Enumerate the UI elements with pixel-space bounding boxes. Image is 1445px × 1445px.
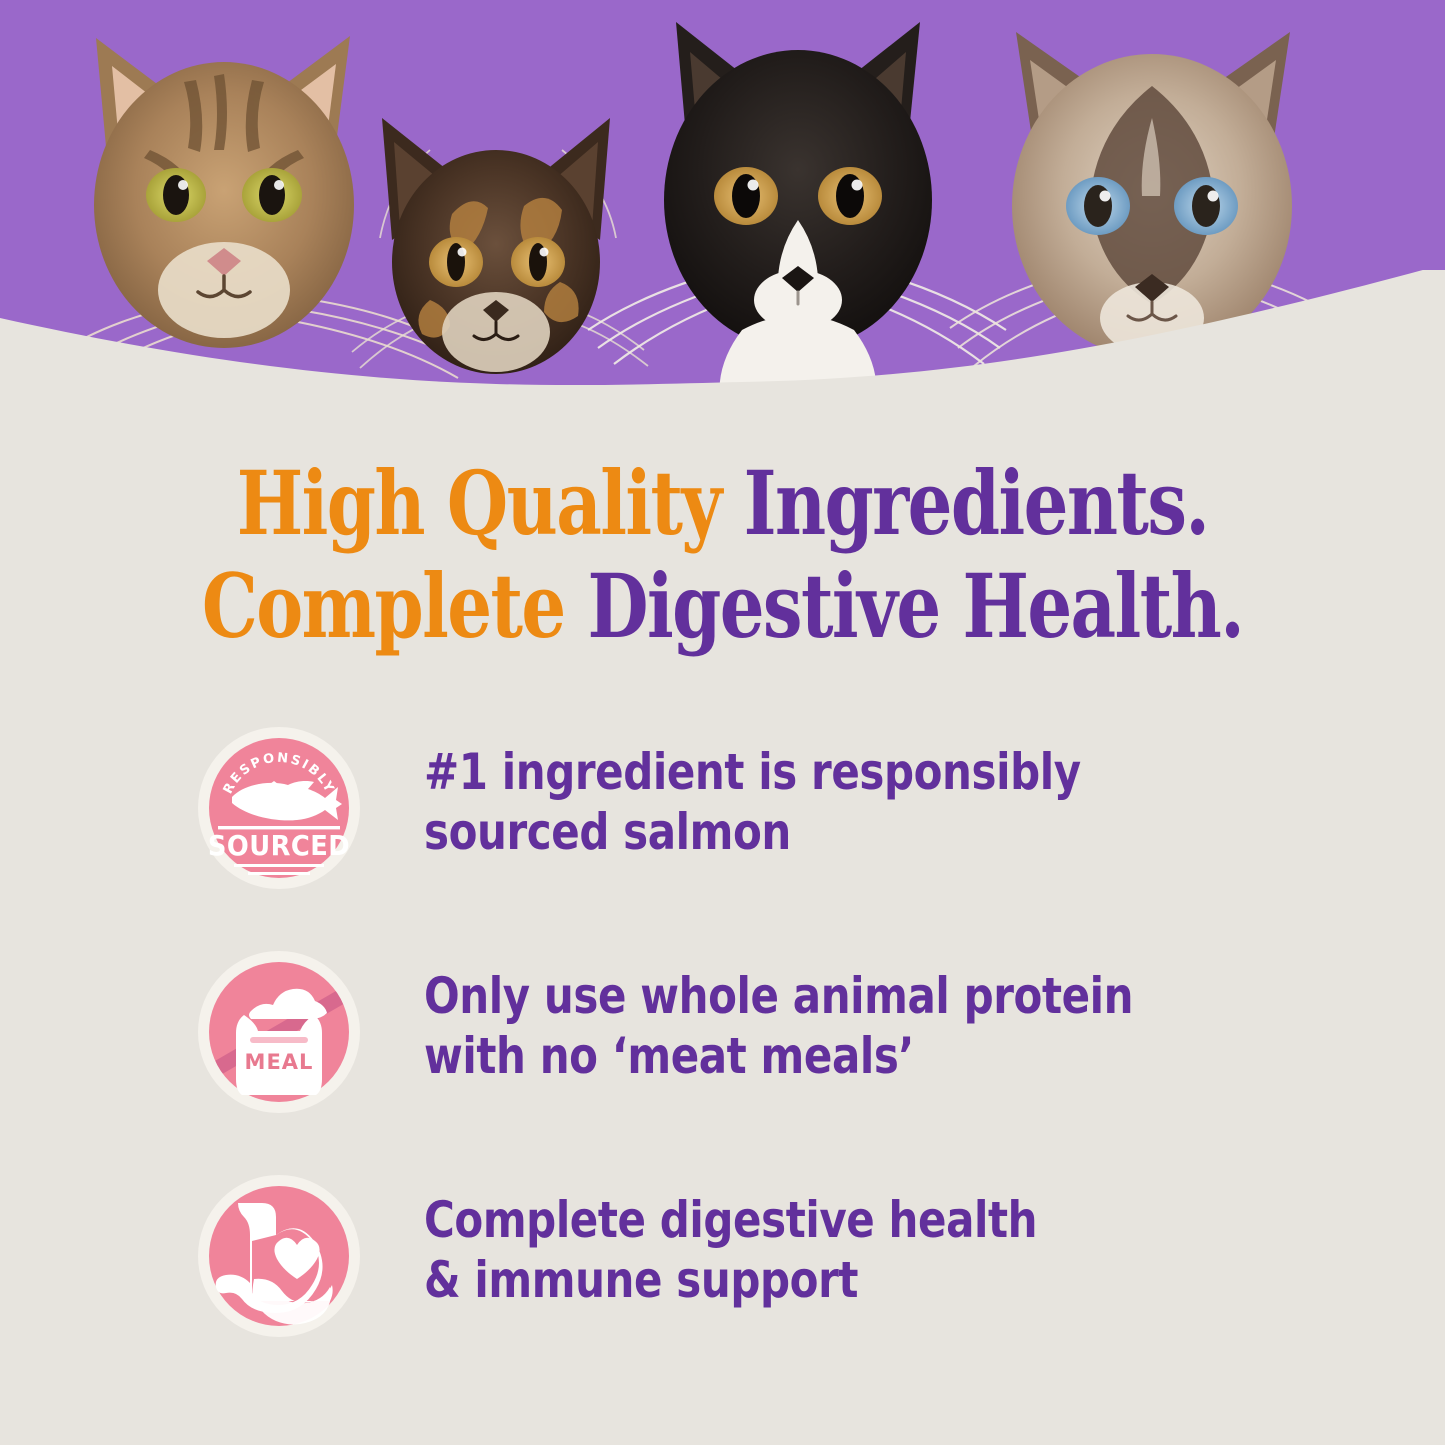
cat-tortoiseshell-kitten bbox=[352, 118, 648, 374]
feature-line-1: Only use whole animal protein bbox=[424, 967, 1133, 1027]
responsibly-sourced-fish-badge-icon: RESPONSIBLY SOURCED bbox=[196, 725, 362, 891]
feature-item-no-meat-meals: MEAL Only use whole animal protein with … bbox=[196, 949, 1326, 1173]
hero-banner bbox=[0, 0, 1445, 395]
badge-main-text: SOURCED bbox=[208, 830, 350, 862]
feature-line-1: #1 ingredient is responsibly bbox=[424, 743, 1081, 803]
headline-line2-purple: Digestive Health. bbox=[588, 554, 1244, 658]
headline-line-2: Complete Digestive Health. bbox=[145, 555, 1301, 658]
page-headline: High Quality Ingredients. Complete Diges… bbox=[145, 452, 1301, 658]
headline-line1-purple: Ingredients. bbox=[744, 451, 1209, 555]
feature-item-digestive-health: Complete digestive health & immune suppo… bbox=[196, 1173, 1326, 1397]
cat-black-tuxedo bbox=[588, 22, 1006, 395]
badge-main-text: MEAL bbox=[245, 1050, 314, 1074]
feature-text-no-meat-meals: Only use whole animal protein with no ‘m… bbox=[424, 949, 1133, 1086]
feature-text-responsibly-sourced: #1 ingredient is responsibly sourced sal… bbox=[424, 725, 1081, 862]
no-meat-meal-sack-badge-icon: MEAL bbox=[196, 949, 362, 1115]
feature-item-responsibly-sourced: RESPONSIBLY SOURCED #1 ingredient is res… bbox=[196, 725, 1326, 949]
headline-line2-orange: Complete bbox=[202, 554, 588, 658]
headline-line-1: High Quality Ingredients. bbox=[145, 452, 1301, 555]
feature-line-2: with no ‘meat meals’ bbox=[424, 1027, 1133, 1087]
feature-line-2: sourced salmon bbox=[424, 803, 1081, 863]
feature-list: RESPONSIBLY SOURCED #1 ingredient is res… bbox=[196, 725, 1326, 1397]
feature-line-2: & immune support bbox=[424, 1251, 1037, 1311]
feature-line-1: Complete digestive health bbox=[424, 1191, 1037, 1251]
headline-line1-orange: High Quality bbox=[237, 451, 744, 555]
product-feature-infographic: High Quality Ingredients. Complete Diges… bbox=[0, 0, 1445, 1445]
feature-text-digestive-health: Complete digestive health & immune suppo… bbox=[424, 1173, 1037, 1310]
cat-seal-point-ragdoll bbox=[950, 32, 1354, 366]
stomach-heart-digestive-health-badge-icon bbox=[196, 1173, 362, 1339]
cats-photo-group bbox=[0, 0, 1445, 395]
